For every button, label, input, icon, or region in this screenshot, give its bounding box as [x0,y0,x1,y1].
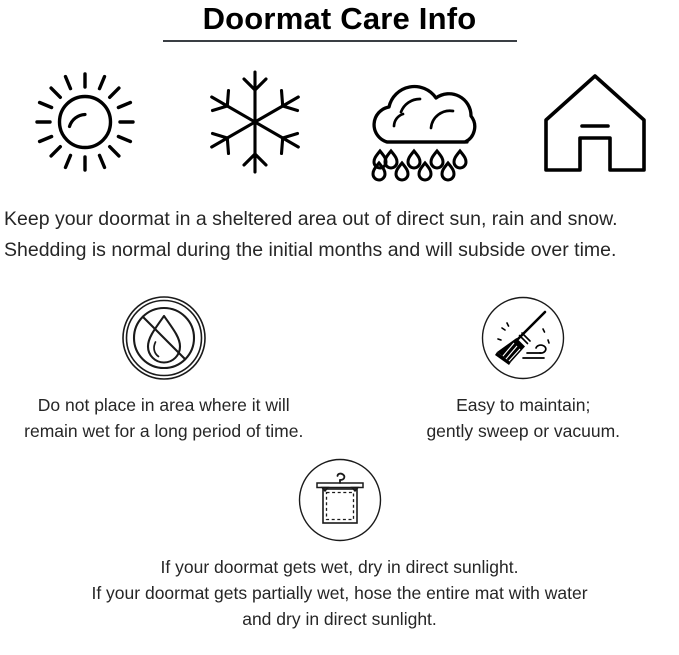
weather-cell-rain-cloud [360,62,490,182]
drying-caption-line-2: If your doormat gets partially wet, hose… [91,580,587,606]
sun-icon [31,68,139,176]
intro-line-2: Shedding is normal during the initial mo… [4,235,675,266]
hanging-dry-icon [298,458,382,542]
care-caption-sweep-line-2: gently sweep or vacuum. [426,418,620,444]
weather-cell-sun [20,62,150,182]
broom-icon [481,296,565,380]
weather-cell-house [530,62,660,182]
drying-caption: If your doormat gets wet, dry in direct … [91,554,587,632]
intro-paragraph: Keep your doormat in a sheltered area ou… [0,204,679,266]
care-item-sweep: Easy to maintain; gently sweep or vacuum… [354,296,679,444]
no-water-icon [122,296,206,380]
title-underline-rule [163,40,517,42]
care-caption-sweep-line-1: Easy to maintain; [426,392,620,418]
rain-cloud-icon [361,66,489,178]
house-icon [536,68,654,176]
care-instructions-row: Do not place in area where it will remai… [0,296,679,444]
drying-caption-line-3: and dry in direct sunlight. [91,606,587,632]
drying-caption-line-1: If your doormat gets wet, dry in direct … [91,554,587,580]
intro-line-1: Keep your doormat in a sheltered area ou… [4,204,675,235]
page-title: Doormat Care Info [0,2,679,36]
care-item-no-water: Do not place in area where it will remai… [0,296,334,444]
title-block: Doormat Care Info [0,0,679,42]
weather-icon-row [0,62,679,182]
drying-instructions-section: If your doormat gets wet, dry in direct … [0,458,679,632]
care-caption-no-water-line-2: remain wet for a long period of time. [24,418,303,444]
care-caption-no-water-line-1: Do not place in area where it will [24,392,303,418]
care-caption-sweep: Easy to maintain; gently sweep or vacuum… [426,392,620,444]
care-caption-no-water: Do not place in area where it will remai… [24,392,303,444]
snowflake-icon [201,66,309,178]
weather-cell-snowflake [190,62,320,182]
